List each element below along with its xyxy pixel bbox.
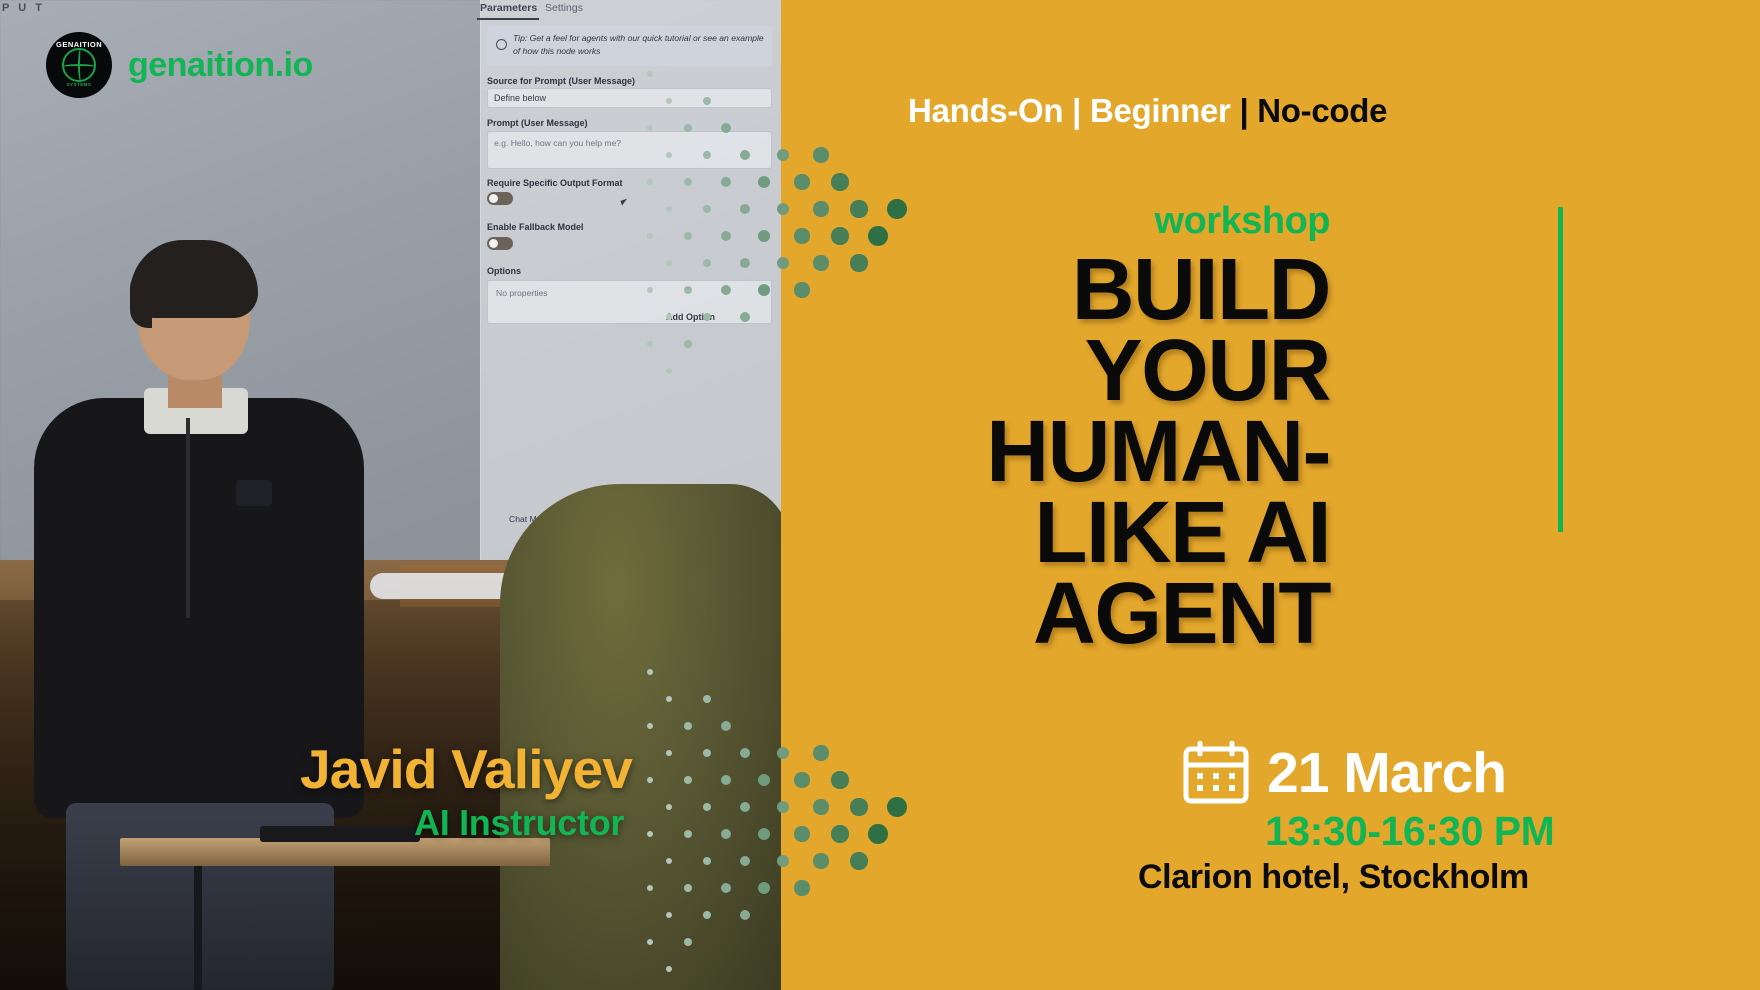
toggle-label-output-format: Require Specific Output Format xyxy=(487,178,623,188)
title-line-5: AGENT xyxy=(430,574,1330,655)
field-source-value: Define below xyxy=(494,93,546,103)
info-icon xyxy=(496,39,507,50)
tab-active-underline xyxy=(477,18,539,20)
tab-bar: Parameters Settings xyxy=(481,0,781,22)
toggle-output-format[interactable] xyxy=(487,192,513,205)
speaker-name: Javid Valiyev xyxy=(300,737,632,801)
kicker-white-part: Hands-On | Beginner xyxy=(908,92,1239,129)
event-time: 13:30-16:30 PM xyxy=(1265,808,1554,855)
speaker-pocket xyxy=(236,480,272,506)
accent-vertical-rule xyxy=(1558,207,1563,532)
calendar-icon xyxy=(1183,741,1249,805)
title-line-4: LIKE AI xyxy=(430,493,1330,574)
title-line-3: HUMAN- xyxy=(430,412,1330,493)
field-label-prompt: Prompt (User Message) xyxy=(487,118,588,128)
speaker-zipper xyxy=(186,418,190,618)
table-object xyxy=(260,826,420,842)
tab-parameters[interactable]: Parameters xyxy=(480,2,537,14)
toggle-fallback-model[interactable] xyxy=(487,237,513,250)
tab-settings[interactable]: Settings xyxy=(545,2,583,14)
event-venue: Clarion hotel, Stockholm xyxy=(1138,858,1529,897)
event-date-row: 21 March xyxy=(1183,740,1506,806)
title-line-1: BUILD xyxy=(430,250,1330,331)
globe-icon xyxy=(62,48,96,82)
kicker-black-part: | No-code xyxy=(1239,92,1387,129)
audience-kicker: Hands-On | Beginner | No-code xyxy=(908,92,1387,130)
title-line-2: YOUR xyxy=(430,331,1330,412)
logo-badge-sub: SYSTEMS xyxy=(60,82,98,87)
speaker-hair-side xyxy=(130,268,152,328)
event-eyebrow: workshop xyxy=(1155,200,1330,243)
speaker-role: AI Instructor xyxy=(414,802,624,844)
logo-wordmark: genaition.io xyxy=(128,46,313,85)
speaker-photo xyxy=(18,248,368,990)
tip-banner: Tip: Get a feel for agents with our quic… xyxy=(487,26,772,66)
toggle-label-fallback-model: Enable Fallback Model xyxy=(487,222,584,232)
logo-badge-icon: GENAITION SYSTEMS xyxy=(46,32,112,98)
field-label-source: Source for Prompt (User Message) xyxy=(487,76,635,86)
screen-top-label: P U T xyxy=(2,2,45,14)
field-prompt-placeholder: e.g. Hello, how can you help me? xyxy=(494,138,621,148)
speaker-leg-split xyxy=(194,848,202,990)
field-prompt-textarea[interactable] xyxy=(487,131,772,169)
event-poster: P U T Parameters Settings Tip: Get a fee… xyxy=(0,0,1760,990)
page-title: BUILD YOUR HUMAN- LIKE AI AGENT xyxy=(430,250,1330,655)
brand-logo[interactable]: GENAITION SYSTEMS genaition.io xyxy=(46,32,313,98)
event-date: 21 March xyxy=(1267,740,1506,806)
tip-text: Tip: Get a feel for agents with our quic… xyxy=(513,32,765,58)
